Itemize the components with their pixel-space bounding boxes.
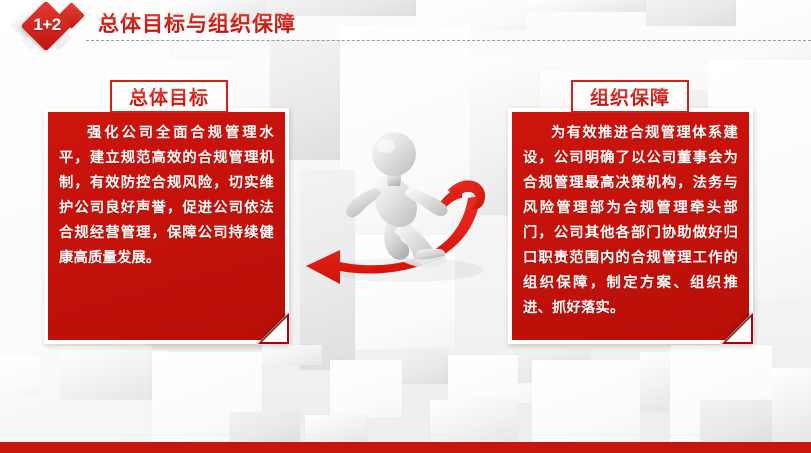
card-fold-edge [726, 317, 751, 342]
logo-label: 1+2 [23, 15, 71, 35]
page-title: 总体目标与组织保障 [98, 8, 296, 38]
person-surfing-on-red-arrow-illustration [296, 112, 512, 302]
panel-label-overall-goal: 总体目标 [110, 80, 228, 113]
diamond-logo: 1+2 [10, 2, 96, 52]
person-figure [346, 132, 447, 264]
panel-label-text: 组织保障 [590, 83, 670, 110]
card-surface: 为有效推进合规管理体系建设，公司明确了以公司董事会为合规管理最高决策机构，法务与… [512, 112, 749, 340]
card-fold-edge [262, 317, 287, 342]
panel-label-organizational-guarantee: 组织保障 [571, 80, 689, 113]
card-body-text: 为有效推进合规管理体系建设，公司明确了以公司董事会为合规管理最高决策机构，法务与… [523, 121, 738, 321]
card-body-text: 强化公司全面合规管理水平，建立规范高效的合规管理机制，有效防控合规风险，切实维护… [59, 121, 274, 271]
slide-root: 1+2 总体目标与组织保障 总体目标 组织保障 强化公司全面合规管理水平，建立规… [0, 0, 811, 453]
card-surface: 强化公司全面合规管理水平，建立规范高效的合规管理机制，有效防控合规风险，切实维护… [48, 112, 285, 340]
slide-header: 1+2 总体目标与组织保障 [0, 0, 811, 56]
header-divider [86, 40, 811, 41]
footer-accent-bar [0, 442, 811, 453]
panel-label-text: 总体目标 [129, 83, 209, 110]
content-card-organizational-guarantee: 为有效推进合规管理体系建设，公司明确了以公司董事会为合规管理最高决策机构，法务与… [508, 108, 753, 344]
content-card-overall-goal: 强化公司全面合规管理水平，建立规范高效的合规管理机制，有效防控合规风险，切实维护… [44, 108, 289, 344]
